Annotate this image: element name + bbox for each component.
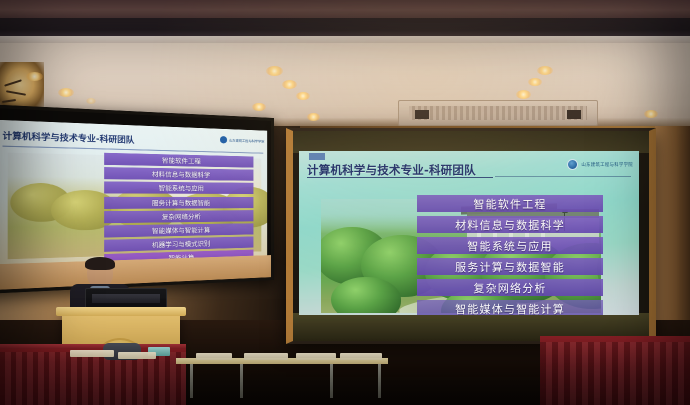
side-slide-logo: 山东建筑工程与科学学院 — [220, 136, 264, 145]
main-slide-bar: 复杂网络分析 — [417, 279, 603, 296]
main-slide-rule — [495, 176, 631, 177]
ceiling-air-vent — [398, 100, 598, 126]
side-projection-screen[interactable]: 计算机科学与技术专业-科研团队 山东建筑工程与科学学院 智能软件工程 材料信息与… — [0, 104, 274, 295]
lecture-hall-photo: 计算机科学与技术专业-科研团队 山东建筑工程与科学学院 智能软件工程 材料信息与… — [0, 0, 690, 405]
ceiling-downlight — [252, 103, 266, 111]
main-slide-bar: 智能媒体与智能计算 — [417, 300, 603, 315]
side-slide-bar: 复杂网络分析 — [104, 210, 253, 223]
ceiling-downlight — [26, 72, 43, 81]
side-slide-bar-list: 智能软件工程 材料信息与数据科学 智能系统与应用 服务计算与数据智能 复杂网络分… — [104, 153, 253, 264]
ceiling-downlight — [266, 66, 283, 76]
side-slide-bar: 服务计算与数据智能 — [104, 196, 253, 208]
paper-sheet — [244, 353, 288, 360]
ceiling-downlight — [528, 78, 542, 86]
main-slide-bar: 服务计算与数据智能 — [417, 258, 603, 275]
side-slide-bar: 智能系统与应用 — [104, 182, 253, 195]
paper-sheet — [196, 353, 232, 360]
paper-sheet — [118, 352, 156, 359]
institution-logo-icon — [220, 136, 227, 143]
folding-table-leg — [190, 364, 193, 398]
side-slide-bar: 材料信息与数据科学 — [104, 167, 253, 181]
paper-sheet — [70, 350, 114, 357]
folding-table-leg — [378, 364, 381, 398]
main-slide-logo-text: 山东建筑工程与科学学院 — [581, 162, 633, 168]
ceiling-downlight — [282, 80, 297, 89]
main-projection-screen[interactable]: 计算机科学与技术专业-科研团队 山东建筑工程与科学学院 智能软件工程 材料信息与… — [286, 128, 656, 344]
main-slide-logo: 山东建筑工程与科学学院 — [567, 159, 633, 170]
main-slide-bar-list: 智能软件工程 材料信息与数据科学 智能系统与应用 服务计算与数据智能 复杂网络分… — [417, 195, 603, 315]
ceiling-downlight — [537, 66, 553, 75]
side-slide-logo-text: 山东建筑工程与科学学院 — [229, 137, 264, 143]
ceiling-dark-band — [0, 18, 690, 38]
presenter-hair — [85, 257, 115, 270]
tree-foliage — [331, 277, 401, 313]
main-slide-title-underline — [307, 177, 493, 178]
main-slide-bar: 智能软件工程 — [417, 195, 603, 212]
main-screen-slide: 计算机科学与技术专业-科研团队 山东建筑工程与科学学院 智能软件工程 材料信息与… — [299, 151, 639, 315]
folding-table-leg — [330, 364, 333, 398]
ceiling-downlight — [516, 90, 531, 99]
main-slide-bar: 材料信息与数据科学 — [417, 216, 603, 233]
main-slide-title: 计算机科学与技术专业-科研团队 — [307, 162, 476, 178]
side-slide-bar: 智能媒体与智能计算 — [104, 223, 253, 237]
ceiling-downlight — [86, 98, 96, 104]
ceiling-downlight — [58, 88, 74, 97]
institution-logo-icon — [567, 159, 578, 170]
ceiling-downlight — [296, 92, 310, 100]
slide-corner-mark — [309, 153, 325, 160]
main-slide-bar: 智能系统与应用 — [417, 237, 603, 254]
folding-table-leg — [240, 364, 243, 398]
paper-sheet — [340, 353, 382, 360]
ceiling-downlight — [307, 113, 320, 121]
draped-table-right — [540, 336, 690, 405]
paper-sheet — [296, 353, 336, 360]
podium-top-surface — [56, 307, 186, 316]
side-slide-bar: 智能软件工程 — [104, 153, 253, 168]
wall-far-right — [655, 126, 690, 341]
main-screen-top-shadow — [293, 131, 649, 153]
side-screen-slide: 计算机科学与技术专业-科研团队 山东建筑工程与科学学院 智能软件工程 材料信息与… — [0, 120, 267, 264]
ceiling-downlight — [644, 110, 658, 118]
